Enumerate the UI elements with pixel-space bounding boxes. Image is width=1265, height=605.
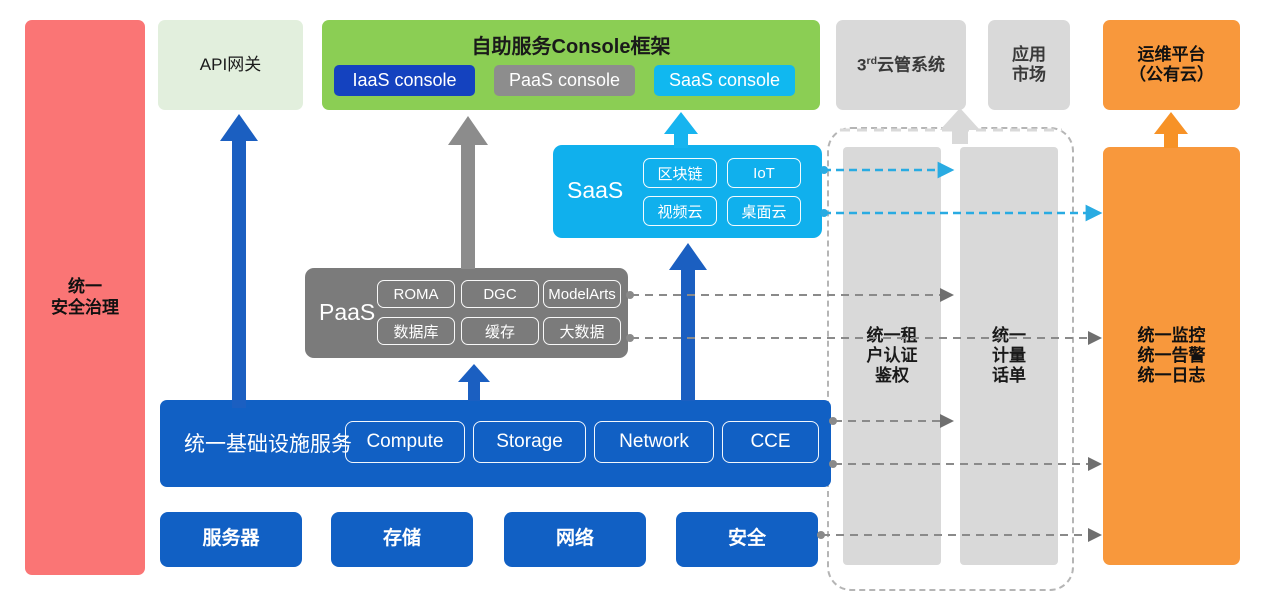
arrow-infra-to-saas: [669, 243, 707, 401]
monitoring-panel: 统一监控 统一告警 统一日志: [1103, 147, 1240, 565]
paas-layer-label: PaaS: [319, 299, 375, 326]
paas-layer-panel: PaaS ROMA DGC ModelArts 数据库 缓存 大数据: [305, 268, 628, 358]
architecture-diagram: 统一 安全治理 API网关 自助服务Console框架 IaaS console…: [0, 0, 1265, 605]
common-service-auth-label: 统一租 户认证 鉴权: [867, 326, 918, 386]
hardware-item-server-label: 服务器: [202, 528, 259, 550]
saas-item-blockchain[interactable]: 区块链: [643, 158, 717, 188]
third-party-cloud-mgmt-box: 3rd云管系统: [836, 20, 966, 110]
iaas-item-compute-label: Compute: [366, 431, 443, 453]
arrow-iaas-to-api-gateway: [220, 114, 258, 408]
saas-item-video-cloud-label: 视频云: [657, 201, 702, 222]
api-gateway-label: API网关: [200, 55, 261, 75]
infrastructure-layer-label: 统一基础设施服务: [184, 428, 352, 458]
saas-item-desktop-cloud-label: 桌面云: [741, 201, 786, 222]
iaas-item-network-label: Network: [619, 431, 689, 453]
console-frame-panel: 自助服务Console框架 IaaS console PaaS console …: [322, 20, 820, 110]
saas-item-blockchain-label: 区块链: [657, 163, 702, 184]
hardware-item-storage[interactable]: 存储: [331, 512, 473, 567]
iaas-item-cce-label: CCE: [750, 431, 790, 453]
iaas-console-label: IaaS console: [352, 70, 456, 91]
iaas-console-chip[interactable]: IaaS console: [334, 65, 475, 96]
saas-item-video-cloud[interactable]: 视频云: [643, 196, 717, 226]
ops-platform-label: 运维平台 （公有云）: [1129, 45, 1214, 85]
infrastructure-layer-panel: 统一基础设施服务 Compute Storage Network CCE: [160, 400, 831, 487]
common-service-billing-label: 统一 计量 话单: [992, 326, 1026, 386]
hardware-item-network[interactable]: 网络: [504, 512, 646, 567]
third-party-cloud-mgmt-label: 3rd云管系统: [857, 55, 945, 76]
console-frame-title: 自助服务Console框架: [322, 30, 820, 59]
security-governance-label: 统一 安全治理: [51, 277, 119, 317]
common-service-column-auth: 统一租 户认证 鉴权: [843, 147, 941, 565]
hardware-item-network-label: 网络: [556, 528, 594, 550]
paas-item-roma-label: ROMA: [394, 286, 439, 303]
paas-item-roma[interactable]: ROMA: [377, 280, 455, 308]
saas-console-chip[interactable]: SaaS console: [654, 65, 795, 96]
arrow-infra-to-paas: [458, 364, 490, 401]
ops-platform-box: 运维平台 （公有云）: [1103, 20, 1240, 110]
iaas-item-cce[interactable]: CCE: [722, 421, 819, 463]
monitoring-panel-label: 统一监控 统一告警 统一日志: [1138, 326, 1206, 386]
paas-item-cache[interactable]: 缓存: [461, 317, 539, 345]
paas-item-dgc[interactable]: DGC: [461, 280, 539, 308]
paas-item-database[interactable]: 数据库: [377, 317, 455, 345]
paas-item-modelarts[interactable]: ModelArts: [543, 280, 621, 308]
app-market-box: 应用 市场: [988, 20, 1070, 110]
third-party-suffix: 云管系统: [877, 55, 945, 74]
saas-layer-panel: SaaS 区块链 IoT 视频云 桌面云: [553, 145, 822, 238]
saas-layer-label: SaaS: [567, 177, 623, 204]
paas-item-database-label: 数据库: [393, 321, 438, 342]
paas-console-chip[interactable]: PaaS console: [494, 65, 635, 96]
api-gateway-box: API网关: [158, 20, 303, 110]
paas-item-bigdata[interactable]: 大数据: [543, 317, 621, 345]
paas-console-label: PaaS console: [509, 70, 620, 91]
hardware-item-server[interactable]: 服务器: [160, 512, 302, 567]
dot-hardware-monitoring: [817, 531, 825, 539]
saas-item-iot[interactable]: IoT: [727, 158, 801, 188]
paas-item-bigdata-label: 大数据: [559, 321, 604, 342]
arrow-saas-to-saas-console: [664, 112, 698, 148]
saas-console-label: SaaS console: [669, 70, 780, 91]
security-governance-panel: 统一 安全治理: [25, 20, 145, 575]
iaas-item-storage-label: Storage: [496, 431, 563, 453]
paas-item-cache-label: 缓存: [485, 321, 515, 342]
saas-item-desktop-cloud[interactable]: 桌面云: [727, 196, 801, 226]
iaas-item-network[interactable]: Network: [594, 421, 714, 463]
hardware-item-security-label: 安全: [728, 528, 766, 550]
paas-item-dgc-label: DGC: [483, 286, 516, 303]
hardware-item-security[interactable]: 安全: [676, 512, 818, 567]
app-market-label: 应用 市场: [1012, 45, 1046, 85]
arrow-to-ops-platform: [1154, 112, 1188, 148]
common-service-column-billing: 统一 计量 话单: [960, 147, 1058, 565]
third-party-sup: rd: [866, 55, 877, 67]
paas-item-modelarts-label: ModelArts: [548, 286, 616, 303]
hardware-item-storage-label: 存储: [383, 528, 421, 550]
arrow-paas-to-console: [448, 116, 488, 269]
saas-item-iot-label: IoT: [753, 165, 775, 182]
iaas-item-compute[interactable]: Compute: [345, 421, 465, 463]
iaas-item-storage[interactable]: Storage: [473, 421, 586, 463]
